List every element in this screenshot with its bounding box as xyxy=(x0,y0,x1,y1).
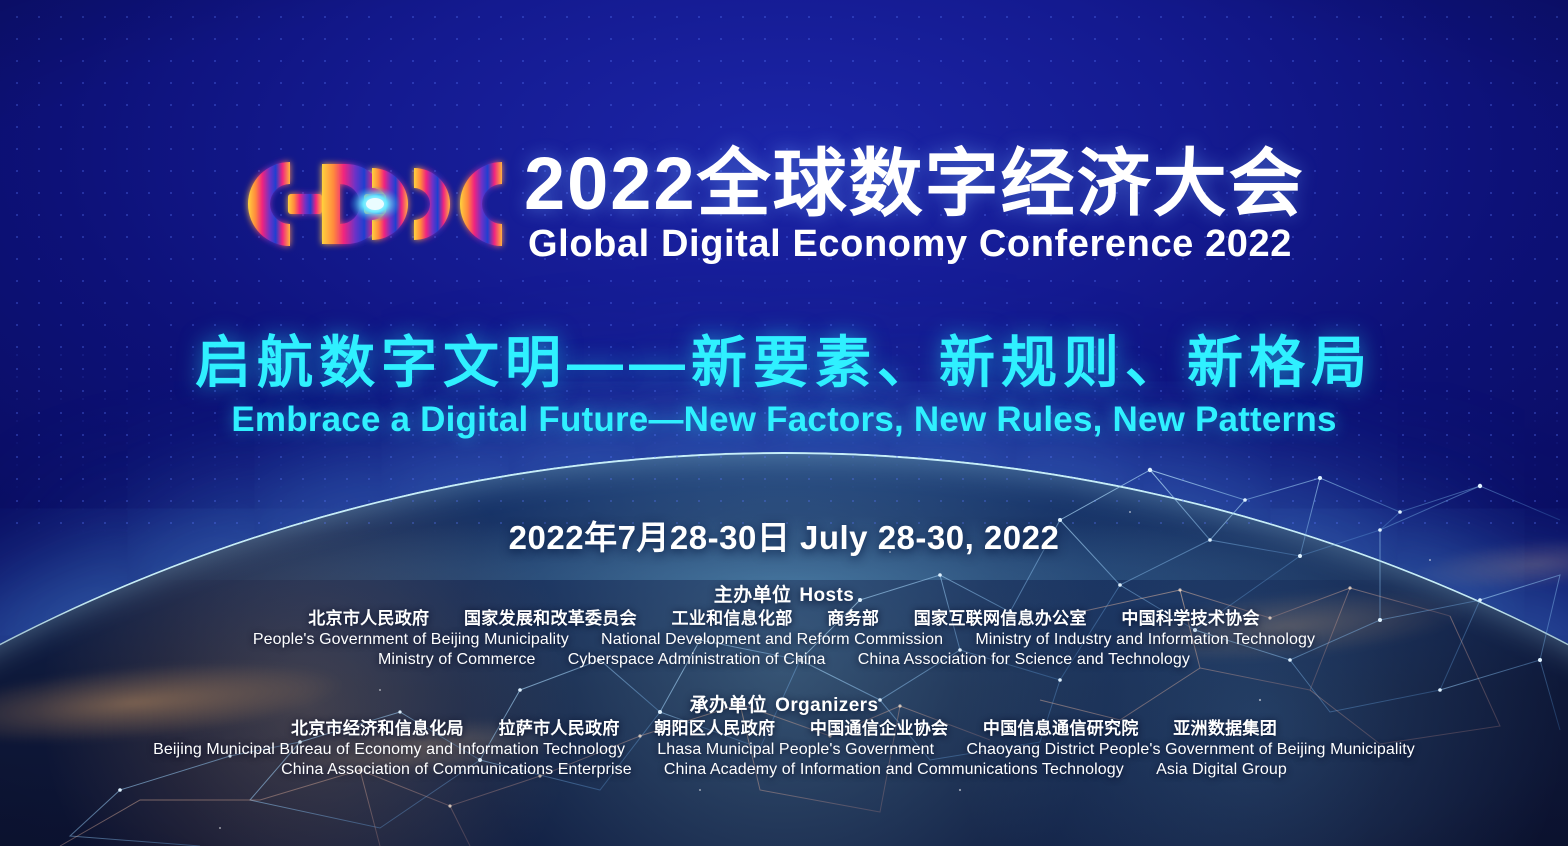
organizers-row-cn: 北京市经济和信息化局 拉萨市人民政府 朝阳区人民政府 中国通信企业协会 中国信息… xyxy=(0,718,1568,740)
hosts-heading-en: Hosts xyxy=(799,585,854,606)
event-date: 2022年7月28-30日 July 28-30, 2022 xyxy=(0,518,1568,558)
gdec-logo xyxy=(244,158,506,250)
hosts-row-en-2: Ministry of Commerce Cyberspace Administ… xyxy=(0,650,1568,670)
organizers-heading: 承办单位Organizers xyxy=(0,694,1568,718)
page-title-cn: 2022全球数字经济大会 xyxy=(524,141,1354,227)
hosts-row-cn: 北京市人民政府 国家发展和改革委员会 工业和信息化部 商务部 国家互联网信息办公… xyxy=(0,608,1568,630)
page-title-en: Global Digital Economy Conference 2022 xyxy=(528,222,1358,266)
hosts-heading-cn: 主办单位 xyxy=(714,585,792,606)
slogan-cn: 启航数字文明——新要素、新规则、新格局 xyxy=(0,331,1568,395)
hosts-section: 主办单位Hosts 北京市人民政府 国家发展和改革委员会 工业和信息化部 商务部… xyxy=(0,584,1568,670)
organizers-heading-cn: 承办单位 xyxy=(690,695,768,716)
hosts-row-en-1: People's Government of Beijing Municipal… xyxy=(0,630,1568,650)
slogan-en: Embrace a Digital Future—New Factors, Ne… xyxy=(0,398,1568,442)
organizers-row-en-2: China Association of Communications Ente… xyxy=(0,760,1568,780)
conference-poster: 2022全球数字经济大会 Global Digital Economy Conf… xyxy=(0,0,1568,846)
organizers-section: 承办单位Organizers 北京市经济和信息化局 拉萨市人民政府 朝阳区人民政… xyxy=(0,694,1568,780)
organizers-heading-en: Organizers xyxy=(775,695,878,716)
organizers-row-en-1: Beijing Municipal Bureau of Economy and … xyxy=(0,740,1568,760)
hosts-heading: 主办单位Hosts xyxy=(0,584,1568,608)
